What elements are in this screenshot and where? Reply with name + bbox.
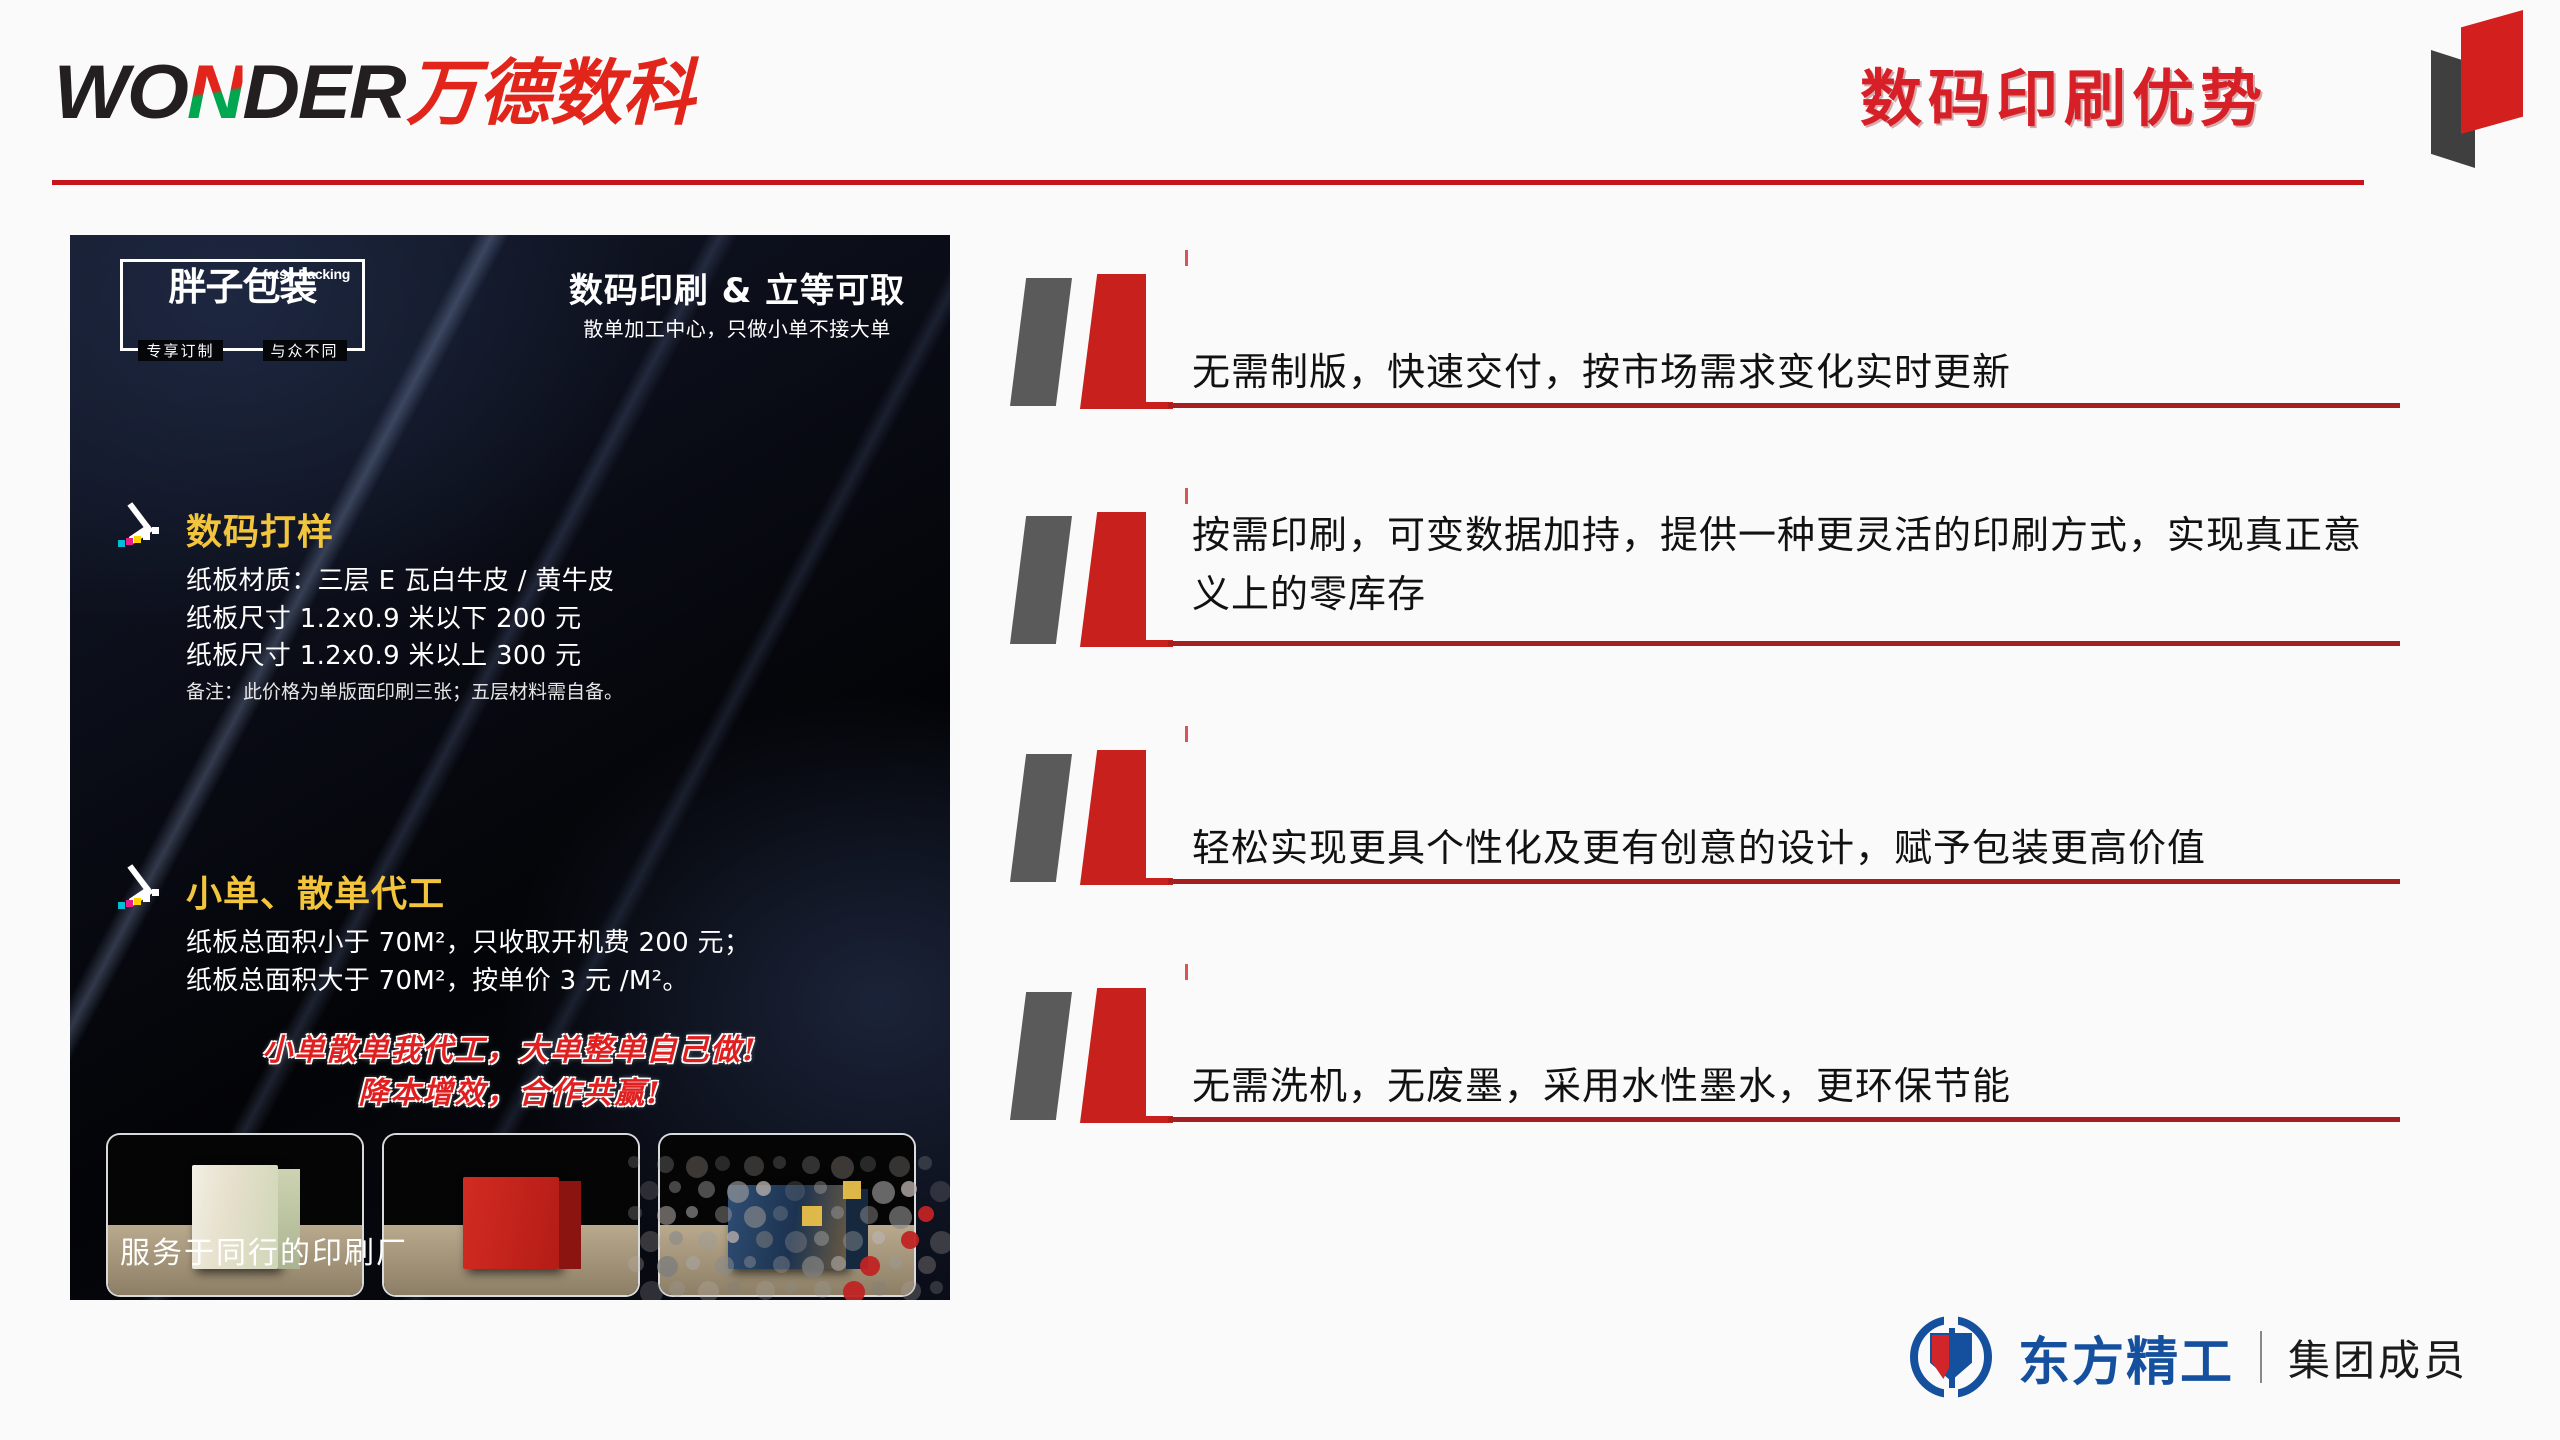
section-line: 纸板总面积大于 70M²，按单价 3 元 /M²。 (186, 963, 750, 1001)
advantage-text: 轻松实现更具个性化及更有创意的设计，赋予包装更高价值 (1192, 752, 2378, 878)
wonder-wordmark-part1: WO (54, 50, 187, 135)
section-line: 纸板总面积小于 70M²，只收取开机费 200 元； (186, 925, 750, 963)
box-side-panel (559, 1181, 581, 1269)
poster-subheadline: 散单加工中心，只做小单不接大单 (532, 313, 942, 342)
corner-deco-red-shape (2461, 10, 2523, 134)
poster-header-band: 胖子包装 fatso Packing 专享订制 与众不同 数码印刷 & 立等可取… (70, 235, 950, 375)
advantage-marker-gray (1010, 516, 1072, 644)
fatso-logo-tagline: 专享订制 与众不同 (123, 340, 362, 361)
advantage-text: 无需制版，快速交付，按市场需求变化实时更新 (1192, 276, 2378, 402)
advantage-underline (1168, 641, 2400, 646)
emblem-ring-gap-top (1944, 1312, 1958, 1328)
halftone-dot-decoration (620, 1150, 950, 1300)
wonder-wordmark-n: N (187, 50, 243, 135)
poster-footer-text: 服务于同行的印刷厂 (120, 1228, 408, 1272)
advantage-marker-red (1080, 274, 1146, 409)
cmyk-dot-magenta (126, 900, 133, 907)
product-photo-red-gift-box (384, 1135, 638, 1295)
section-title-row: 数码打样 (116, 503, 623, 555)
advantage-marker-red (1080, 512, 1146, 647)
advantage-marker-red-tail (1133, 1116, 1173, 1123)
page-header: WONDER 万德数科 数码印刷优势 (0, 0, 2560, 190)
dongfang-jingong-emblem-icon (1910, 1316, 1992, 1398)
group-member-label: 集团成员 (2288, 1327, 2468, 1388)
section-body: 纸板材质：三层 E 瓦白牛皮 / 黄牛皮 纸板尺寸 1.2x0.9 米以下 20… (186, 563, 623, 707)
section-body: 纸板总面积小于 70M²，只收取开机费 200 元； 纸板总面积大于 70M²，… (186, 925, 750, 1000)
footer-logo-divider (2260, 1331, 2262, 1383)
cmyk-dot-cyan (118, 540, 125, 547)
advantage-text: 无需洗机，无废墨，采用水性墨水，更环保节能 (1192, 990, 2378, 1116)
advantage-marker-red-tail (1133, 878, 1173, 885)
advantage-marker-gray (1010, 992, 1072, 1120)
promo-poster-image: 胖子包装 fatso Packing 专享订制 与众不同 数码印刷 & 立等可取… (70, 235, 950, 1300)
advantage-item-4: 无需洗机，无废墨，采用水性墨水，更环保节能 (1000, 976, 2400, 1214)
wonder-wordmark: WONDER (54, 55, 405, 131)
advantage-underline (1168, 1117, 2400, 1122)
advantage-item-3: 轻松实现更具个性化及更有创意的设计，赋予包装更高价值 (1000, 738, 2400, 976)
page-title: 数码印刷优势 (1860, 48, 2268, 138)
advantage-item-1: 无需制版，快速交付，按市场需求变化实时更新 (1000, 262, 2400, 500)
cmyk-dot-white-1 (143, 895, 150, 902)
advantage-marker-gray (1010, 754, 1072, 882)
wonder-wordmark-part2: DER (242, 50, 404, 135)
fatso-tagline-left: 专享订制 (138, 340, 222, 361)
section-title-text: 小单、散单代工 (186, 865, 445, 917)
cmyk-dot-cyan (118, 902, 125, 909)
advantage-tick-mark (1185, 488, 1188, 504)
cmyk-dot-white-1 (143, 533, 150, 540)
section-title-row: 小单、散单代工 (116, 865, 750, 917)
fatso-logo-english-text: fatso Packing (263, 266, 350, 282)
chevron-arrow-icon (116, 871, 174, 911)
advantage-marker-gray (1010, 278, 1072, 406)
cmyk-dot-yellow (134, 536, 141, 543)
cmyk-dot-magenta (126, 538, 133, 545)
group-member-logo: 东方精工 集团成员 (1910, 1316, 2468, 1398)
product-box-shape (463, 1177, 559, 1269)
section-title-text: 数码打样 (186, 503, 334, 555)
poster-headline: 数码印刷 & 立等可取 (532, 263, 942, 312)
advantage-underline (1168, 879, 2400, 884)
section-note: 备注：此价格为单版面印刷三张；五层材料需自备。 (186, 678, 623, 707)
advantage-marker-red-tail (1133, 640, 1173, 647)
section-line: 纸板尺寸 1.2x0.9 米以上 300 元 (186, 638, 623, 676)
wonder-brand-logo: WONDER 万德数科 (62, 55, 694, 133)
advantage-item-2: 按需印刷，可变数据加持，提供一种更灵活的印刷方式，实现真正意义上的零库存 (1000, 500, 2400, 738)
poster-section-small-order-oem: 小单、散单代工 纸板总面积小于 70M²，只收取开机费 200 元； 纸板总面积… (116, 865, 750, 1000)
poster-slogan: 小单散单我代工，大单整单自己做! 降本增效，合作共赢! (70, 1030, 950, 1115)
cmyk-dot-white-2 (152, 527, 159, 534)
header-divider (52, 180, 2364, 185)
wonder-chinese-name: 万德数科 (406, 57, 694, 129)
advantage-marker-red-tail (1133, 402, 1173, 409)
cmyk-dot-yellow (134, 898, 141, 905)
advantage-text: 按需印刷，可变数据加持，提供一种更灵活的印刷方式，实现真正意义上的零库存 (1192, 506, 2378, 632)
section-line: 纸板尺寸 1.2x0.9 米以下 200 元 (186, 601, 623, 639)
cmyk-dot-white-2 (152, 889, 159, 896)
company-name: 东方精工 (2018, 1320, 2234, 1395)
poster-section-digital-proofing: 数码打样 纸板材质：三层 E 瓦白牛皮 / 黄牛皮 纸板尺寸 1.2x0.9 米… (116, 503, 623, 707)
fatso-tagline-right: 与众不同 (263, 340, 347, 361)
emblem-stem (1949, 1328, 1955, 1388)
advantages-list: 无需制版，快速交付，按市场需求变化实时更新 按需印刷，可变数据加持，提供一种更灵… (1000, 262, 2400, 1214)
fatso-packing-logo: 胖子包装 fatso Packing 专享订制 与众不同 (120, 259, 365, 351)
advantage-marker-red (1080, 988, 1146, 1123)
advantage-tick-mark (1185, 250, 1188, 266)
poster-slogan-line-1: 小单散单我代工，大单整单自己做! (70, 1030, 950, 1073)
section-line: 纸板材质：三层 E 瓦白牛皮 / 黄牛皮 (186, 563, 623, 601)
advantage-underline (1168, 403, 2400, 408)
advantage-marker-red (1080, 750, 1146, 885)
advantage-tick-mark (1185, 964, 1188, 980)
poster-slogan-line-2: 降本增效，合作共赢! (70, 1073, 950, 1116)
chevron-arrow-icon (116, 509, 174, 549)
corner-decoration-icon (2413, 8, 2533, 168)
emblem-ring-gap-bottom (1944, 1386, 1958, 1402)
advantage-tick-mark (1185, 726, 1188, 742)
